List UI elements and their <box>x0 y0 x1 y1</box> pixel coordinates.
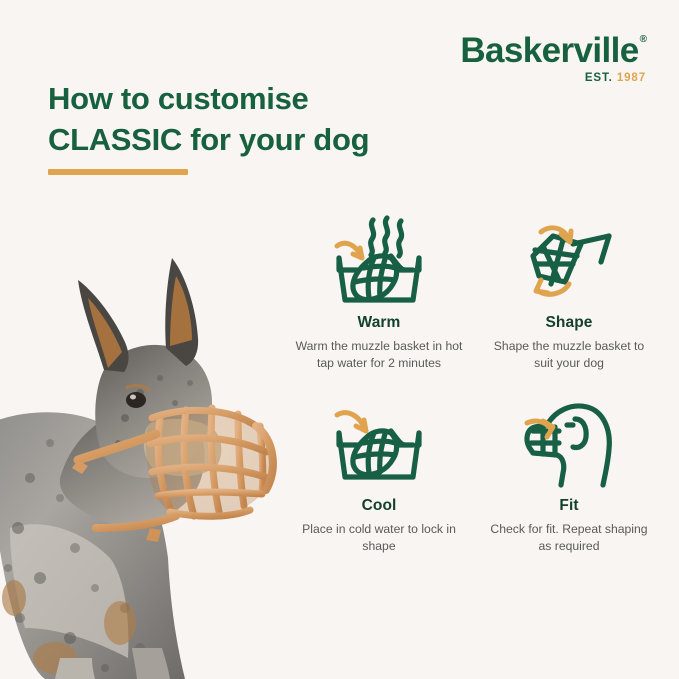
muzzle-in-basin-icon <box>353 256 397 300</box>
step-title: Warm <box>294 314 464 332</box>
cool-basin-icon <box>294 395 464 491</box>
logo-established: EST. 1987 <box>460 73 646 85</box>
accent-rule <box>48 169 188 175</box>
shape-muzzle-icon <box>484 212 654 308</box>
step-title: Fit <box>484 497 654 515</box>
page-title-line-2: CLASSIC for your dog <box>48 120 428 161</box>
arrow-into-basin-icon <box>337 412 366 430</box>
step-title: Cool <box>294 497 464 515</box>
step-description: Check for fit. Repeat shaping as require… <box>484 521 654 556</box>
fit-dog-head-icon <box>484 395 654 491</box>
step-cool: Cool Place in cold water to lock in shap… <box>288 395 470 556</box>
step-shape: Shape Shape the muzzle basket to suit yo… <box>478 212 660 373</box>
brand-logo: Baskerville® EST. 1987 <box>460 33 646 85</box>
logo-established-year: 1987 <box>617 72 646 84</box>
step-description: Place in cold water to lock in shape <box>294 521 464 556</box>
page-title-line-1: How to customise <box>48 79 428 120</box>
steps-grid: Warm Warm the muzzle basket in hot tap w… <box>288 212 660 555</box>
page-title: How to customise CLASSIC for your dog <box>48 79 428 161</box>
logo-wordmark-row: Baskerville® <box>460 33 646 68</box>
dog-eye-glint <box>130 395 136 400</box>
muzzle-in-basin-icon <box>353 431 397 475</box>
dog-photo <box>0 228 290 679</box>
logo-established-label: EST. <box>585 72 613 84</box>
dog-photo-illustration <box>0 228 290 679</box>
dog-front-leg <box>55 658 95 679</box>
step-description: Warm the muzzle basket in hot tap water … <box>294 338 464 373</box>
step-description: Shape the muzzle basket to suit your dog <box>484 338 654 373</box>
step-warm: Warm Warm the muzzle basket in hot tap w… <box>288 212 470 373</box>
dog-eye <box>126 392 146 408</box>
registered-trademark-icon: ® <box>640 34 647 45</box>
warm-basin-icon <box>294 212 464 308</box>
arrow-into-basin-icon <box>337 243 362 258</box>
poster-canvas: Baskerville® EST. 1987 How to customise … <box>0 0 679 679</box>
logo-wordmark: Baskerville <box>460 33 638 68</box>
step-title: Shape <box>484 314 654 332</box>
steam-lines-icon <box>371 218 402 256</box>
step-fit: Fit Check for fit. Repeat shaping as req… <box>478 395 660 556</box>
